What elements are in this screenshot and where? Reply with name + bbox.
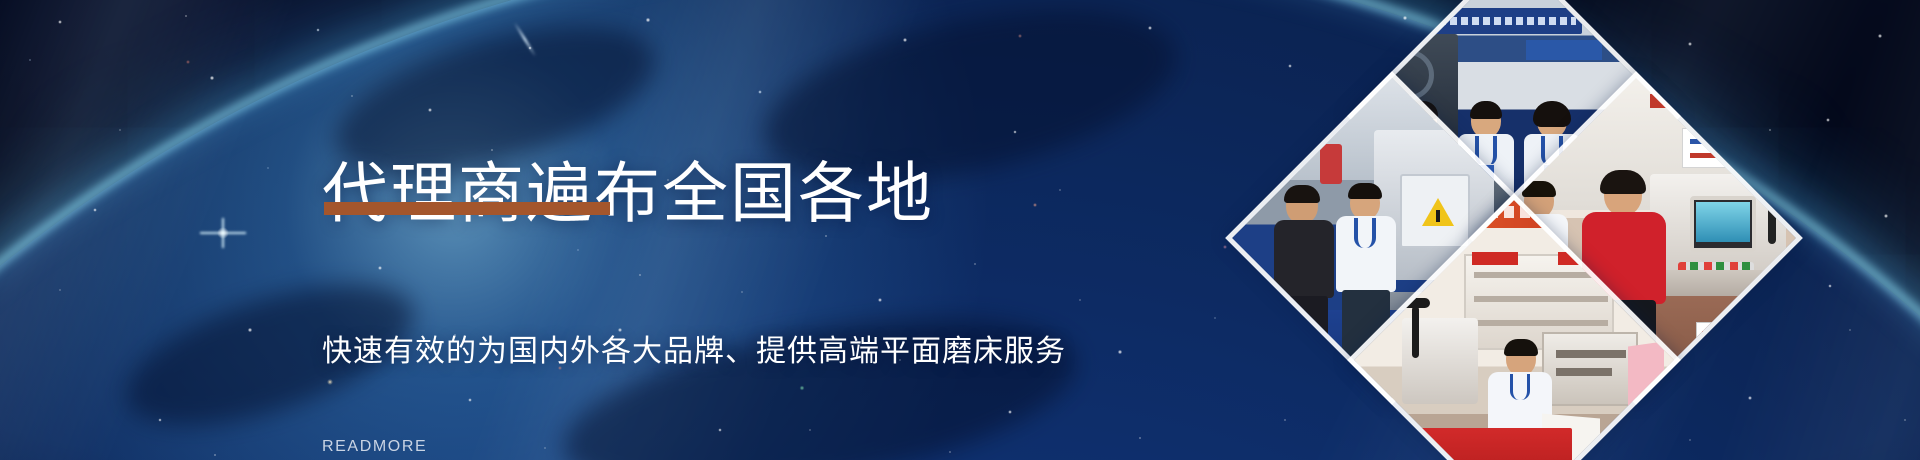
background-person-red: [1320, 144, 1342, 184]
red-wall-stripe: [1650, 94, 1768, 108]
booth-banner-secondary: [1526, 40, 1602, 60]
booth-banner: [1398, 8, 1582, 34]
company-emblem-icon: [1398, 444, 1442, 460]
readmore-link[interactable]: READMORE: [322, 438, 427, 456]
warning-triangle-icon: [1422, 198, 1454, 226]
cnc-screen: [1696, 202, 1750, 242]
red-reception-counter: [1360, 428, 1572, 460]
lamp-arm-icon: [1412, 306, 1419, 358]
promo-banner: 代理商遍布全国各地 快速有效的为国内外各大品牌、提供高端平面磨床服务 READM…: [0, 0, 1920, 460]
diamond-photo-collage: [1268, 0, 1760, 460]
banner-subtitle: 快速有效的为国内外各大品牌、提供高端平面磨床服务: [322, 332, 1066, 372]
banner-copy: 代理商遍布全国各地 快速有效的为国内外各大品牌、提供高端平面磨床服务 READM…: [322, 112, 1066, 456]
floor-poster: [1696, 322, 1740, 350]
lens-flare-icon: [222, 232, 224, 234]
lens-flare-core: [217, 227, 229, 239]
headline-underline-bar: [324, 202, 610, 215]
sign-board: [1542, 332, 1638, 406]
shelf-label-tag: [1472, 252, 1518, 265]
wall-sign: [1682, 128, 1744, 168]
dark-equipment-case: [1602, 454, 1672, 460]
pink-banner: [1628, 341, 1664, 416]
page-title: 代理商遍布全国各地: [322, 156, 934, 230]
